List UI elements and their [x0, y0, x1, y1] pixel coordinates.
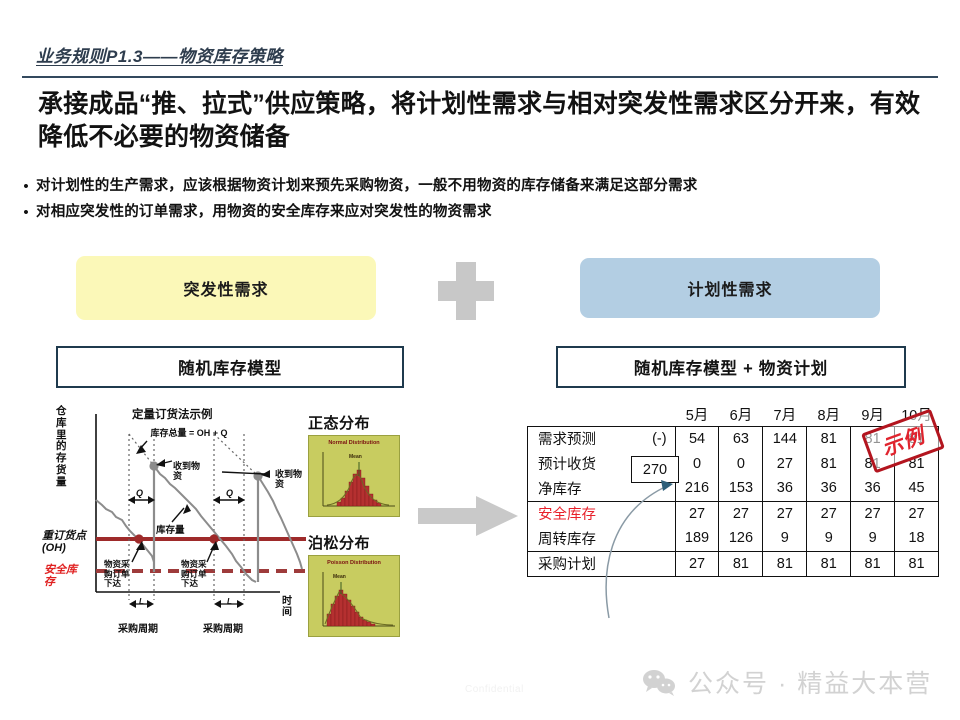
normal-mean-label: Mean	[349, 454, 362, 460]
chart-receive-label-1: 收到物资	[173, 462, 201, 482]
table-cell: 27	[675, 551, 719, 576]
table-cell: 126	[719, 526, 763, 551]
table-cell: 27	[851, 501, 895, 526]
normal-distribution-title: 正态分布	[308, 412, 400, 433]
row-sign	[631, 551, 675, 576]
table-cell: 0	[719, 451, 763, 476]
burst-demand-box: 突发性需求	[76, 256, 376, 320]
table-cell: 27	[763, 501, 807, 526]
table-cell: 9	[851, 526, 895, 551]
table-col-header: 8月	[807, 404, 851, 426]
table-cell: 81	[763, 551, 807, 576]
table-cell: 27	[719, 501, 763, 526]
row-label: 净库存	[528, 476, 632, 501]
bullet-dot-icon: •	[16, 202, 36, 225]
chart-order-placed-1: 物资采购订单下达	[104, 560, 130, 589]
table-cell: 216	[675, 476, 719, 501]
table-cell: 153	[719, 476, 763, 501]
table-cell: 81	[807, 451, 851, 476]
chart-y-axis-label: 仓库里的存货量	[56, 406, 70, 488]
chart-lead-time-1: L	[139, 597, 144, 606]
table-cell: 144	[763, 426, 807, 451]
chart-q-label-1: Q	[136, 488, 143, 498]
page-title: 业务规则P1.3——物资库存策略	[36, 42, 283, 67]
table-cell: 36	[851, 476, 895, 501]
row-label: 周转库存	[528, 526, 632, 551]
chart-total-inventory-label: 库存总量 = OH + Q	[148, 428, 230, 438]
slide-root: 业务规则P1.3——物资库存策略 承接成品“推、拉式”供应策略，将计划性需求与相…	[0, 0, 960, 720]
chart-cycle-label-2: 采购周期	[203, 620, 243, 635]
bullet-text: 对相应突发性的订单需求，用物资的安全库存来应对突发性的物资需求	[36, 202, 492, 224]
chart-cycle-label-1: 采购周期	[118, 620, 158, 635]
planned-demand-box: 计划性需求	[580, 258, 880, 318]
header-divider	[22, 76, 938, 78]
poisson-distribution-title: 泊松分布	[308, 532, 400, 553]
table-cell: 0	[675, 451, 719, 476]
table-col-header: 9月	[851, 404, 895, 426]
row-label-safety-stock: 安全库存	[528, 501, 632, 526]
table-cell: 9	[807, 526, 851, 551]
table-cell: 54	[675, 426, 719, 451]
wechat-icon	[640, 667, 678, 697]
chart-inventory-label: 库存量	[156, 522, 185, 536]
row-label: 需求预测	[528, 426, 632, 451]
watermark-text: 公众号 · 精益大本营	[688, 664, 932, 700]
list-item: • 对计划性的生产需求，应该根据物资计划来预先采购物资，一般不用物资的库存储备来…	[16, 176, 946, 199]
poisson-distribution-card: Poisson Distribution	[308, 555, 400, 637]
table-cell: 27	[763, 451, 807, 476]
table-cell: 36	[763, 476, 807, 501]
table-cell: 81	[719, 551, 763, 576]
stamp-text: 示例	[877, 419, 929, 462]
table-cell: 81	[895, 551, 939, 576]
row-label: 采购计划	[528, 551, 632, 576]
row-label: 预计收货	[528, 451, 632, 476]
chart-order-placed-2: 物资采购订单下达	[181, 560, 207, 589]
table-row: 周转库存 189 126 9 9 9 18	[528, 526, 939, 551]
row-sign	[631, 526, 675, 551]
chart-q-label-2: Q	[226, 488, 233, 498]
table-cell: 18	[895, 526, 939, 551]
table-row: 净库存 216 153 36 36 36 45	[528, 476, 939, 501]
normal-distribution-figure: 正态分布 Normal Distribution	[308, 412, 400, 517]
table-cell: 36	[807, 476, 851, 501]
chart-receive-label-2: 收到物资	[275, 470, 303, 490]
table-col-header: 6月	[719, 404, 763, 426]
table-cell: 27	[675, 501, 719, 526]
table-row: 安全库存 27 27 27 27 27 27	[528, 501, 939, 526]
poisson-mean-label: Mean	[333, 574, 346, 580]
table-cell: 27	[807, 501, 851, 526]
chart-lead-time-2: L	[227, 597, 232, 606]
table-cell: 63	[719, 426, 763, 451]
confidential-footer: Confidential	[465, 684, 524, 695]
table-cell: 81	[851, 551, 895, 576]
bullet-text: 对计划性的生产需求，应该根据物资计划来预先采购物资，一般不用物资的库存储备来满足…	[36, 176, 698, 198]
model-box-left: 随机库存模型	[56, 346, 404, 388]
plus-icon	[438, 262, 494, 320]
opening-balance-cell: 270	[631, 456, 679, 483]
table-cell: 81	[807, 426, 851, 451]
right-block-arrow-icon	[418, 492, 518, 540]
table-col-header: 7月	[763, 404, 807, 426]
table-cell: 9	[763, 526, 807, 551]
table-cell: 45	[895, 476, 939, 501]
table-row: 采购计划 27 81 81 81 81 81	[528, 551, 939, 576]
watermark: 公众号 · 精益大本营	[640, 664, 932, 700]
main-heading: 承接成品“推、拉式”供应策略，将计划性需求与相对突发性需求区分开来，有效降低不必…	[38, 88, 928, 155]
table-cell: 27	[895, 501, 939, 526]
row-sign	[631, 501, 675, 526]
bullet-list: • 对计划性的生产需求，应该根据物资计划来预先采购物资，一般不用物资的库存储备来…	[16, 176, 946, 227]
chart-safety-stock-label: 安全库存	[44, 564, 86, 588]
row-sign: (-)	[631, 426, 675, 451]
chart-title: 定量订货法示例	[132, 406, 213, 422]
chart-x-axis-label: 时间	[282, 596, 294, 618]
list-item: • 对相应突发性的订单需求，用物资的安全库存来应对突发性的物资需求	[16, 202, 946, 225]
normal-distribution-card: Normal Distribution	[308, 435, 400, 517]
table-header-row: 5月 6月 7月 8月 9月 10月	[528, 404, 939, 426]
table-col-header: 5月	[675, 404, 719, 426]
inventory-cycle-chart: 仓库里的存货量 重订货点(OH) 安全库存 定量订货法示例 库存总量 = OH …	[44, 404, 314, 644]
table-cell: 189	[675, 526, 719, 551]
table-cell: 81	[807, 551, 851, 576]
model-box-right: 随机库存模型 + 物资计划	[556, 346, 906, 388]
chart-reorder-point-label: 重订货点(OH)	[42, 530, 88, 554]
bullet-dot-icon: •	[16, 176, 36, 199]
poisson-distribution-figure: 泊松分布 Poisson Distribution	[308, 532, 400, 637]
